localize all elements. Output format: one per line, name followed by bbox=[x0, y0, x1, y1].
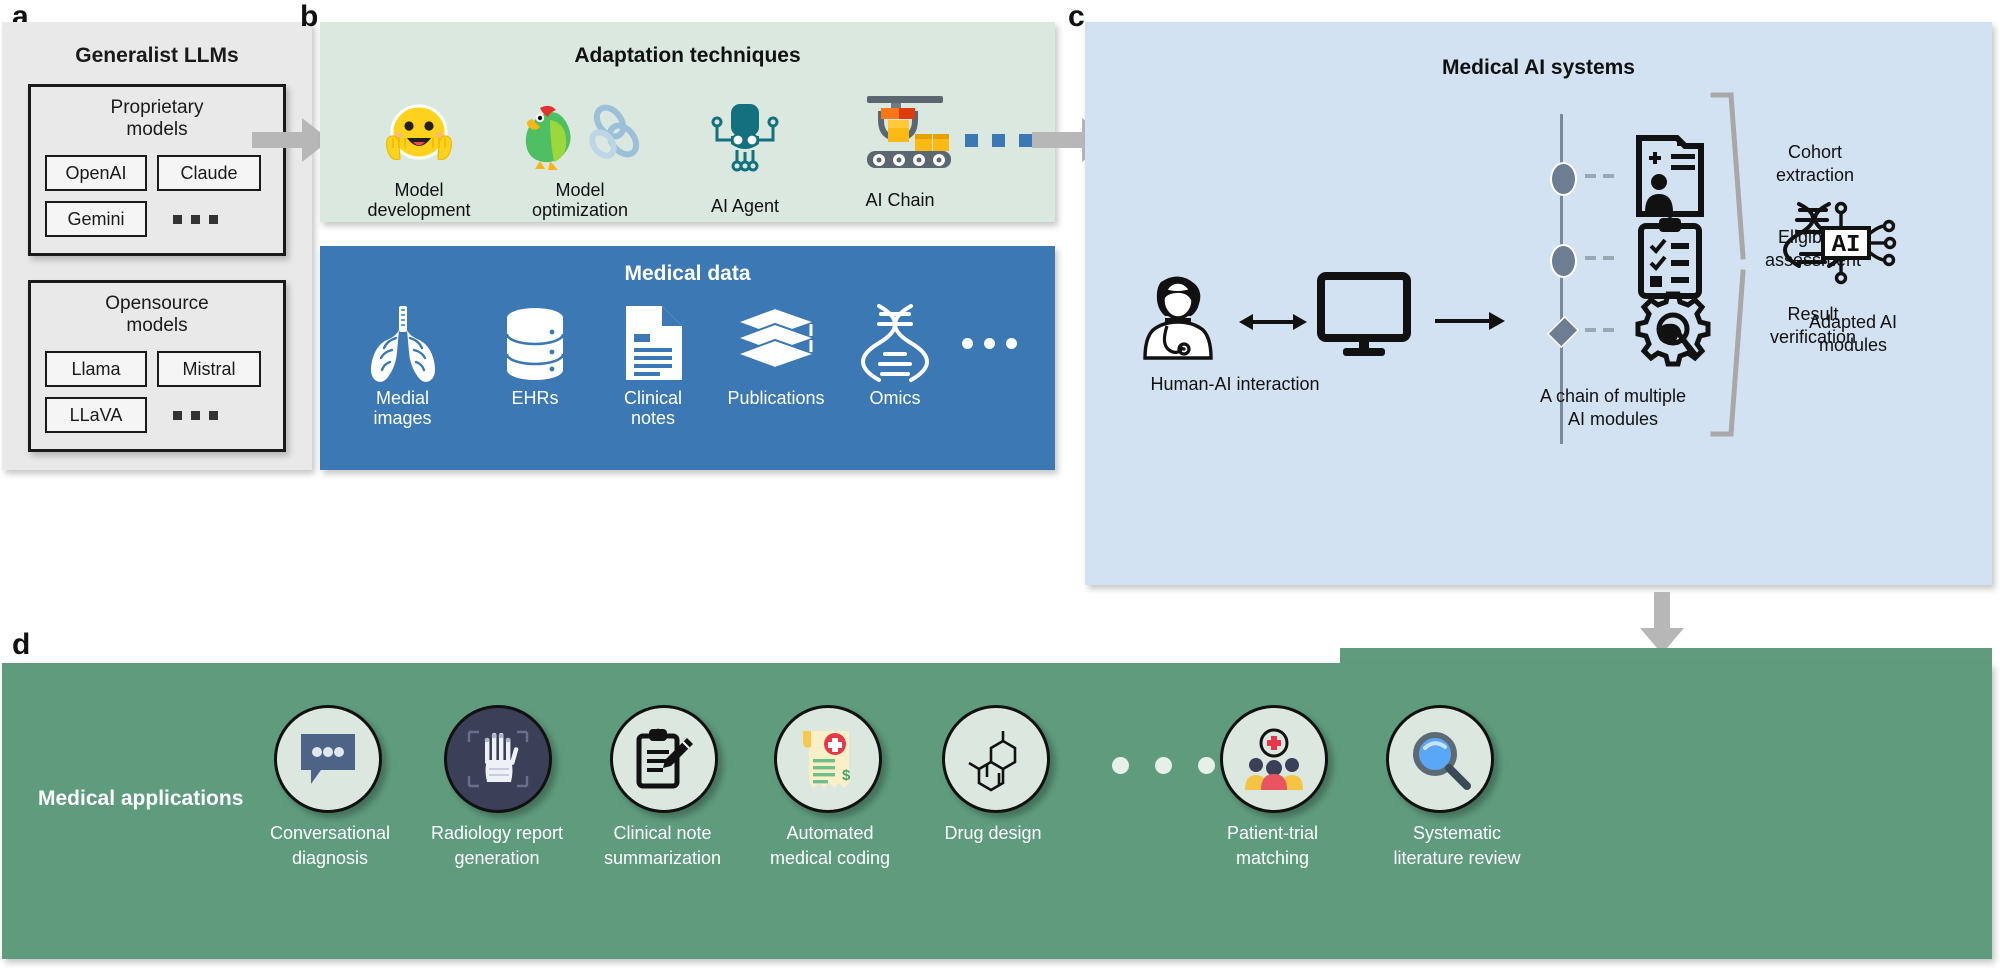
applications-ellipsis bbox=[1112, 757, 1215, 774]
books-stack-icon bbox=[712, 304, 840, 382]
clipboard-pen-icon bbox=[635, 728, 693, 790]
panel-letter-b: b bbox=[300, 2, 318, 32]
adaptation-item-model-development: Model development bbox=[344, 100, 494, 220]
magnifier-icon bbox=[1409, 728, 1471, 790]
opensource-heading-line1: Opensource bbox=[31, 293, 283, 315]
chain-node-cohort[interactable] bbox=[1550, 162, 1577, 196]
dna-helix-icon bbox=[846, 304, 944, 382]
chip-claude[interactable]: Claude bbox=[157, 155, 261, 191]
app-circle-radiology-report[interactable] bbox=[444, 705, 552, 813]
app-circle-clinical-note-summarization[interactable] bbox=[610, 705, 718, 813]
app-circle-drug-design[interactable] bbox=[942, 705, 1050, 813]
medical-data-item-publications: Publications bbox=[712, 304, 840, 408]
document-lines-icon bbox=[598, 304, 708, 382]
svg-text:$: $ bbox=[842, 767, 851, 784]
app-label-coding-line2: medical coding bbox=[730, 848, 930, 869]
medical-data-label-line2: notes bbox=[598, 408, 708, 428]
monitor-icon bbox=[1317, 274, 1411, 358]
medical-data-label-line1: Medial bbox=[340, 388, 465, 408]
chip-llava[interactable]: LLaVA bbox=[45, 397, 147, 433]
forward-arrow-icon bbox=[1435, 308, 1507, 334]
chip-llama[interactable]: Llama bbox=[45, 351, 147, 387]
app-label-literature-review-line2: literature review bbox=[1342, 848, 1572, 869]
bidirectional-arrow-icon bbox=[1237, 309, 1309, 335]
adaptation-item-model-optimization: Model optimization bbox=[500, 100, 660, 220]
adapted-ai-modules-label-line1: Adapted AI bbox=[1773, 312, 1933, 333]
opensource-ellipsis bbox=[173, 411, 218, 420]
panel-b-adaptation-techniques: Adaptation techniques Model development bbox=[320, 22, 1055, 222]
panel-letter-c: c bbox=[1068, 2, 1085, 32]
medical-applications-title: Medical applications bbox=[38, 787, 243, 811]
adaptation-item-ai-agent: AI Agent bbox=[670, 100, 820, 216]
chain-dash-result bbox=[1585, 328, 1614, 332]
panel-b-medical-data: Medical data Medial images bbox=[320, 246, 1055, 470]
adaptation-ellipsis bbox=[965, 134, 1032, 147]
app-label-drug-design-line1: Drug design bbox=[908, 823, 1078, 844]
app-circle-automated-medical-coding[interactable]: $ bbox=[774, 705, 882, 813]
app-label-coding-line1: Automated bbox=[730, 823, 930, 844]
molecule-icon bbox=[965, 727, 1027, 791]
chain-node-result[interactable] bbox=[1547, 316, 1580, 349]
medical-bill-icon: $ bbox=[799, 727, 857, 791]
human-ai-interaction-label: Human-AI interaction bbox=[1105, 374, 1365, 395]
panel-a-title: Generalist LLMs bbox=[2, 44, 312, 68]
dna-ai-chip-icon: AI bbox=[1785, 202, 1907, 298]
doctor-icon bbox=[1135, 272, 1221, 368]
proprietary-ellipsis bbox=[173, 215, 218, 224]
opensource-models-group: Opensource models Llama Mistral LLaVA bbox=[28, 280, 286, 452]
app-label-patient-trial-line2: matching bbox=[1180, 848, 1365, 869]
chip-openai[interactable]: OpenAI bbox=[45, 155, 147, 191]
adaptation-label-line1: Model bbox=[500, 180, 660, 200]
panel-c-medical-ai-systems: Medical AI systems Human-AI interaction bbox=[1085, 22, 1992, 585]
adaptation-label-line1: AI Agent bbox=[670, 196, 820, 216]
svg-text:AI: AI bbox=[1832, 232, 1861, 259]
adaptation-label-line1: AI Chain bbox=[820, 190, 980, 210]
medical-data-label-line1: Omics bbox=[846, 388, 944, 408]
proprietary-heading-line1: Proprietary bbox=[31, 97, 283, 119]
robot-arm-conveyor-icon bbox=[820, 94, 980, 172]
medical-data-label-line1: EHRs bbox=[480, 388, 590, 408]
medical-data-label-line1: Clinical bbox=[598, 388, 708, 408]
panel-d-medical-applications: Medical applications Conversational diag… bbox=[2, 663, 1992, 959]
adaptation-label-line2: optimization bbox=[500, 200, 660, 220]
medical-data-title: Medical data bbox=[320, 262, 1055, 286]
hugging-face-icon bbox=[344, 100, 494, 172]
app-circle-conversational-diagnosis[interactable] bbox=[274, 705, 382, 813]
adapted-modules-brace bbox=[1683, 92, 1763, 437]
medical-data-item-medical-images: Medial images bbox=[340, 304, 465, 428]
panel-letter-d: d bbox=[12, 630, 30, 660]
proprietary-models-group: Proprietary models OpenAI Claude Gemini bbox=[28, 84, 286, 256]
database-icon bbox=[480, 304, 590, 382]
opensource-heading-line2: models bbox=[31, 315, 283, 337]
octopus-agent-icon bbox=[670, 100, 820, 172]
parrot-chain-icon bbox=[500, 100, 660, 172]
arrow-a-to-b bbox=[252, 118, 330, 162]
lungs-icon bbox=[340, 304, 465, 382]
adaptation-item-ai-chain: AI Chain bbox=[820, 94, 980, 210]
patient-group-icon bbox=[1242, 728, 1306, 790]
medical-ai-systems-title: Medical AI systems bbox=[1085, 56, 1992, 80]
adaptation-label-line1: Model bbox=[344, 180, 494, 200]
medical-data-label-line2: images bbox=[340, 408, 465, 428]
adapted-ai-modules-label-line2: modules bbox=[1773, 335, 1933, 356]
speech-bubble-icon bbox=[299, 732, 357, 786]
app-label-conversational-line2: diagnosis bbox=[230, 848, 430, 869]
app-circle-systematic-literature-review[interactable] bbox=[1386, 705, 1494, 813]
proprietary-heading-line2: models bbox=[31, 119, 283, 141]
adaptation-label-line2: development bbox=[344, 200, 494, 220]
chain-dash-cohort bbox=[1585, 174, 1614, 178]
app-label-literature-review-line1: Systematic bbox=[1342, 823, 1572, 844]
hand-xray-icon bbox=[465, 728, 531, 790]
medical-data-item-omics: Omics bbox=[846, 304, 944, 408]
app-label-conversational-line1: Conversational bbox=[230, 823, 430, 844]
chip-mistral[interactable]: Mistral bbox=[157, 351, 261, 387]
medical-data-item-ehrs: EHRs bbox=[480, 304, 590, 408]
app-circle-patient-trial-matching[interactable] bbox=[1220, 705, 1328, 813]
chain-dash-eligibility bbox=[1585, 256, 1614, 260]
medical-data-item-clinical-notes: Clinical notes bbox=[598, 304, 708, 428]
chip-gemini[interactable]: Gemini bbox=[45, 201, 147, 237]
medical-data-ellipsis bbox=[962, 338, 1017, 349]
chain-node-eligibility[interactable] bbox=[1550, 244, 1577, 278]
adaptation-title: Adaptation techniques bbox=[320, 44, 1055, 68]
app-label-patient-trial-line1: Patient-trial bbox=[1180, 823, 1365, 844]
panel-a-generalist-llms: Generalist LLMs Proprietary models OpenA… bbox=[2, 22, 312, 470]
arrow-c-to-d bbox=[1640, 592, 1684, 654]
medical-data-label-line1: Publications bbox=[712, 388, 840, 408]
